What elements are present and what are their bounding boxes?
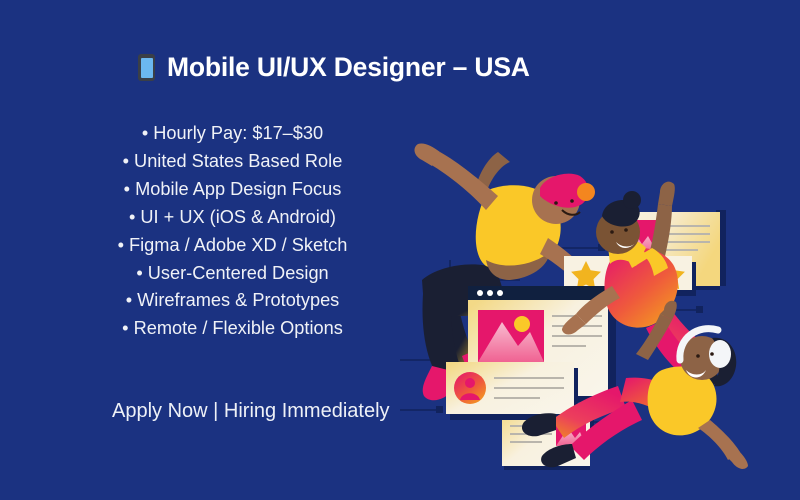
list-item: • User-Centered Design — [60, 260, 405, 288]
list-item: • United States Based Role — [60, 148, 405, 176]
mobile-phone-icon — [138, 54, 155, 81]
list-item: • Mobile App Design Focus — [60, 176, 405, 204]
profile-card — [446, 362, 578, 420]
list-item: • Wireframes & Prototypes — [60, 287, 405, 315]
window-dots — [477, 290, 503, 296]
job-post-graphic: Mobile UI/UX Designer – USA • Hourly Pay… — [0, 0, 800, 500]
list-item: • Hourly Pay: $17–$30 — [60, 120, 405, 148]
apply-now-cta[interactable]: Apply Now | Hiring Immediately — [112, 400, 390, 423]
list-item: • Figma / Adobe XD / Sketch — [60, 232, 405, 260]
designers-building-ui-illustration — [380, 70, 800, 470]
list-item: • Remote / Flexible Options — [60, 315, 405, 343]
job-highlights-list: • Hourly Pay: $17–$30 • United States Ba… — [60, 120, 405, 343]
list-item: • UI + UX (iOS & Android) — [60, 204, 405, 232]
